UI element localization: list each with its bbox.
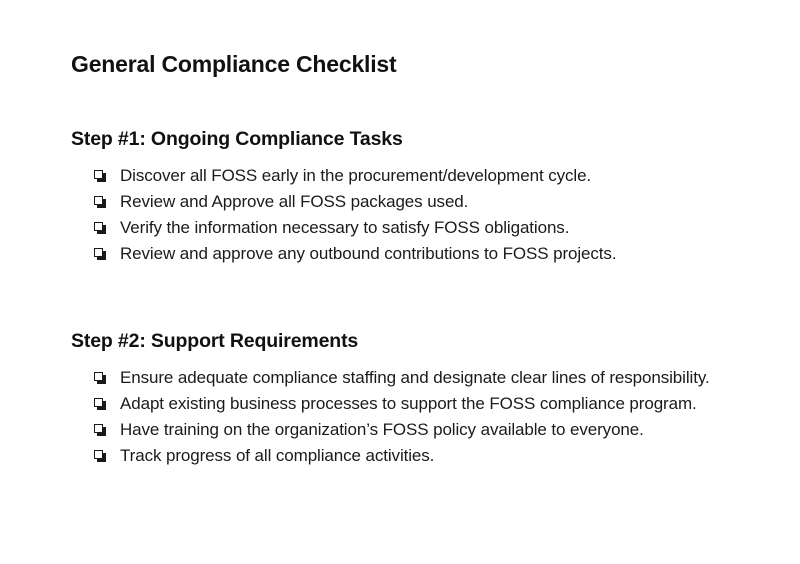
section-step-2: Step #2: Support Requirements Ensure ade… [71, 330, 771, 469]
checklist-item[interactable]: Track progress of all compliance activit… [94, 443, 771, 469]
checklist-item-label: Adapt existing business processes to sup… [120, 391, 771, 417]
document-page: General Compliance Checklist Step #1: On… [0, 0, 800, 564]
checklist-item[interactable]: Review and approve any outbound contribu… [94, 241, 771, 267]
shadowed-box-icon [94, 424, 106, 436]
shadowed-box-icon [94, 248, 106, 260]
checklist-item-label: Discover all FOSS early in the procureme… [120, 163, 771, 189]
checklist-item[interactable]: Discover all FOSS early in the procureme… [94, 163, 771, 189]
shadowed-box-icon [94, 222, 106, 234]
checklist-item[interactable]: Have training on the organization’s FOSS… [94, 417, 771, 443]
section-heading-step-1: Step #1: Ongoing Compliance Tasks [71, 128, 771, 151]
checklist-item-label: Review and Approve all FOSS packages use… [120, 189, 771, 215]
checklist-item-label: Have training on the organization’s FOSS… [120, 417, 771, 443]
checklist-item-label: Ensure adequate compliance staffing and … [120, 365, 771, 391]
checklist-step-2: Ensure adequate compliance staffing and … [71, 365, 771, 469]
shadowed-box-icon [94, 170, 106, 182]
checklist-item[interactable]: Adapt existing business processes to sup… [94, 391, 771, 417]
checklist-item-label: Review and approve any outbound contribu… [120, 241, 771, 267]
checklist-item[interactable]: Review and Approve all FOSS packages use… [94, 189, 771, 215]
checklist-item-label: Verify the information necessary to sati… [120, 215, 771, 241]
checklist-item-label: Track progress of all compliance activit… [120, 443, 771, 469]
section-step-1: Step #1: Ongoing Compliance Tasks Discov… [71, 128, 771, 267]
section-heading-step-2: Step #2: Support Requirements [71, 330, 771, 353]
checklist-item[interactable]: Ensure adequate compliance staffing and … [94, 365, 771, 391]
checklist-item[interactable]: Verify the information necessary to sati… [94, 215, 771, 241]
shadowed-box-icon [94, 196, 106, 208]
shadowed-box-icon [94, 450, 106, 462]
shadowed-box-icon [94, 372, 106, 384]
shadowed-box-icon [94, 398, 106, 410]
page-title: General Compliance Checklist [71, 51, 396, 78]
checklist-step-1: Discover all FOSS early in the procureme… [71, 163, 771, 267]
